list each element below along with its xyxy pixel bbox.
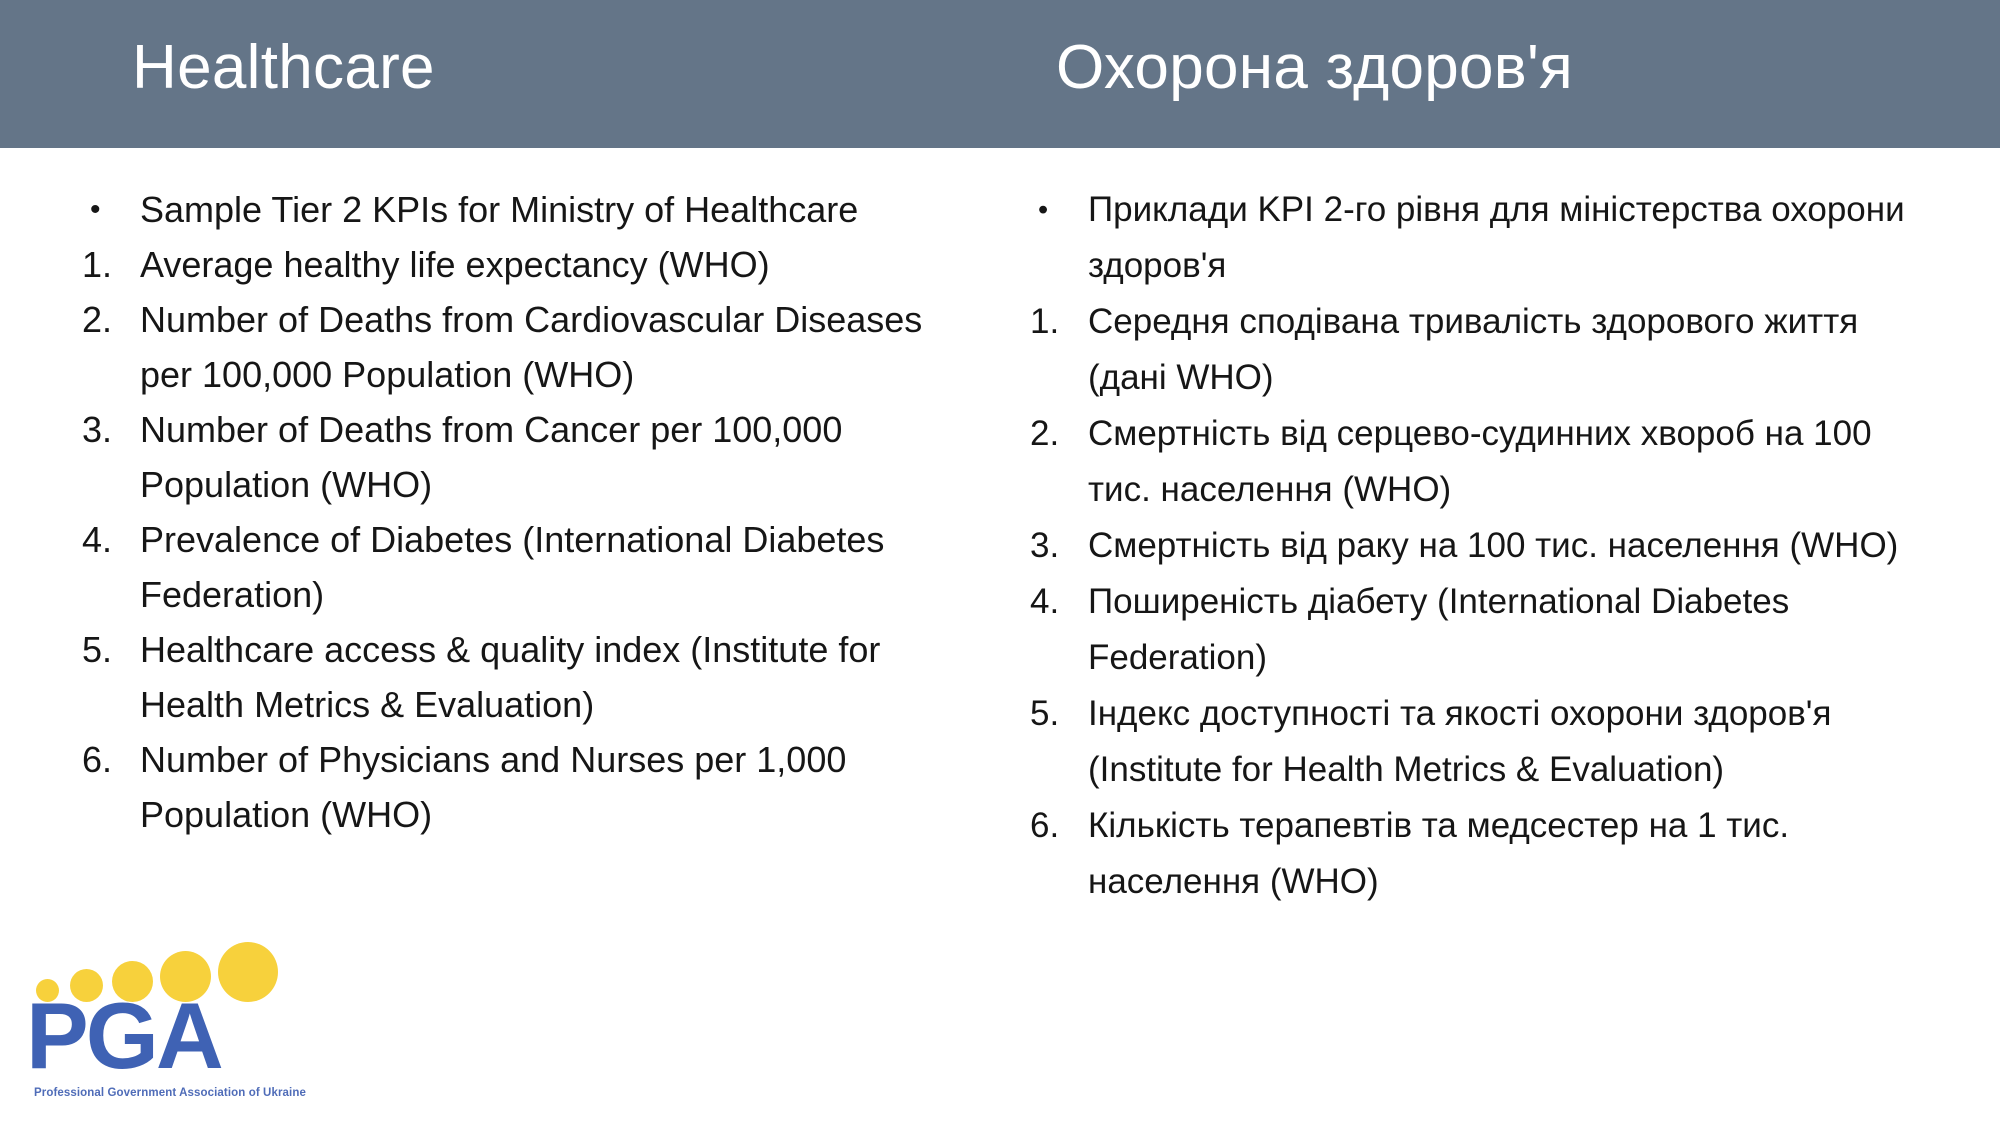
list-item-text: Number of Physicians and Nurses per 1,00… xyxy=(138,732,980,842)
list-item: 1. Average healthy life expectancy (WHO) xyxy=(80,237,980,292)
list-item-text: Sample Tier 2 KPIs for Ministry of Healt… xyxy=(138,182,980,237)
number-marker: 3. xyxy=(80,402,138,457)
list-item: 3. Смертність від раку на 100 тис. насел… xyxy=(1028,518,1938,574)
number-marker: 1. xyxy=(80,237,138,292)
logo-dot-icon xyxy=(218,942,278,1002)
list-item: 5. Індекс доступності та якості охорони … xyxy=(1028,686,1938,798)
list-item-text: Healthcare access & quality index (Insti… xyxy=(138,622,980,732)
column-english: • Sample Tier 2 KPIs for Ministry of Hea… xyxy=(80,182,980,842)
column-ukrainian: • Приклади KPI 2-го рівня для міністерст… xyxy=(1028,182,1938,910)
number-marker: 6. xyxy=(1028,798,1086,854)
list-item: 6. Number of Physicians and Nurses per 1… xyxy=(80,732,980,842)
list-item-text: Приклади KPI 2-го рівня для міністерства… xyxy=(1086,182,1938,294)
number-marker: 4. xyxy=(1028,574,1086,630)
list-item-text: Смертність від серцево-судинних хвороб н… xyxy=(1086,406,1938,518)
list-item-text: Середня сподівана тривалість здорового ж… xyxy=(1086,294,1938,406)
header-band: Healthcare Охорона здоров'я xyxy=(0,0,2000,148)
number-marker: 4. xyxy=(80,512,138,567)
list-item: 2. Number of Deaths from Cardiovascular … xyxy=(80,292,980,402)
logo-tagline: Professional Government Association of U… xyxy=(34,1086,306,1100)
list-item: 5. Healthcare access & quality index (In… xyxy=(80,622,980,732)
list-item-text: Поширеність діабету (International Diabe… xyxy=(1086,574,1938,686)
number-marker: 5. xyxy=(80,622,138,677)
list-item-text: Prevalence of Diabetes (International Di… xyxy=(138,512,980,622)
kpi-list-english: • Sample Tier 2 KPIs for Ministry of Hea… xyxy=(80,182,980,842)
content-columns: • Sample Tier 2 KPIs for Ministry of Hea… xyxy=(0,148,2000,1125)
list-item: 3. Number of Deaths from Cancer per 100,… xyxy=(80,402,980,512)
list-item-text: Number of Deaths from Cancer per 100,000… xyxy=(138,402,980,512)
list-item-text: Кількість терапевтів та медсестер на 1 т… xyxy=(1086,798,1938,910)
list-item: 6. Кількість терапевтів та медсестер на … xyxy=(1028,798,1938,910)
page-title-ukrainian: Охорона здоров'я xyxy=(1056,26,1573,110)
kpi-list-ukrainian: • Приклади KPI 2-го рівня для міністерст… xyxy=(1028,182,1938,910)
page-title-english: Healthcare xyxy=(132,26,435,110)
list-item: 4. Поширеність діабету (International Di… xyxy=(1028,574,1938,686)
number-marker: 3. xyxy=(1028,518,1086,574)
bullet-marker: • xyxy=(1028,182,1086,238)
list-item-text: Смертність від раку на 100 тис. населенн… xyxy=(1086,518,1938,574)
bullet-marker: • xyxy=(80,182,138,237)
list-item-text: Average healthy life expectancy (WHO) xyxy=(138,237,980,292)
list-item: 4. Prevalence of Diabetes (International… xyxy=(80,512,980,622)
number-marker: 5. xyxy=(1028,686,1086,742)
pga-logo: PGA Professional Government Association … xyxy=(30,940,275,1100)
list-item-text: Індекс доступності та якості охорони здо… xyxy=(1086,686,1938,798)
slide: Healthcare Охорона здоров'я • Sample Tie… xyxy=(0,0,2000,1125)
list-item: • Приклади KPI 2-го рівня для міністерст… xyxy=(1028,182,1938,294)
list-item: • Sample Tier 2 KPIs for Ministry of Hea… xyxy=(80,182,980,237)
list-item: 1. Середня сподівана тривалість здоровог… xyxy=(1028,294,1938,406)
list-item: 2. Смертність від серцево-судинних хворо… xyxy=(1028,406,1938,518)
number-marker: 2. xyxy=(1028,406,1086,462)
logo-wordmark: PGA xyxy=(26,988,221,1084)
list-item-text: Number of Deaths from Cardiovascular Dis… xyxy=(138,292,980,402)
number-marker: 1. xyxy=(1028,294,1086,350)
number-marker: 2. xyxy=(80,292,138,347)
number-marker: 6. xyxy=(80,732,138,787)
